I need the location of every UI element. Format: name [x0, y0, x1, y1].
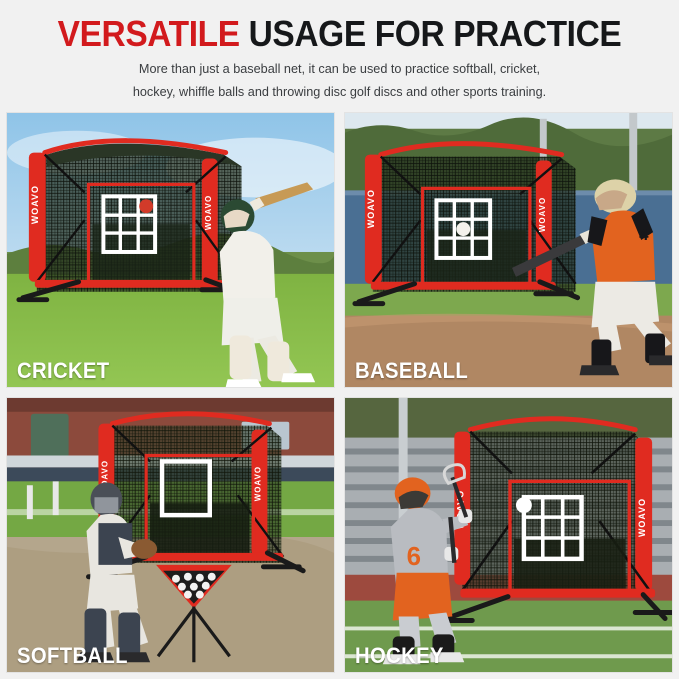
jersey-number: 4	[639, 225, 649, 244]
jersey-number: 6	[407, 543, 421, 571]
brand-text-left: WOAVO	[366, 189, 376, 228]
subtitle-line-2: hockey, whiffle balls and throwing disc …	[14, 78, 666, 101]
product-feature-image: VERSATILE USAGE FOR PRACTICE More than j…	[0, 0, 679, 679]
catchers-mitt	[131, 539, 157, 559]
net-base-bar	[460, 589, 655, 598]
brand-text-right: WOAVO	[538, 197, 547, 232]
baseball	[456, 222, 470, 236]
title-accent-word: VERSATILE	[58, 13, 240, 54]
brand-text-left: WOAVO	[30, 185, 40, 224]
softball-scene: WOAVO WOAVO	[7, 398, 334, 672]
panel-softball[interactable]: WOAVO WOAVO	[6, 397, 335, 673]
title-rest: USAGE FOR PRACTICE	[240, 13, 622, 54]
brand-text-right: WOAVO	[253, 466, 262, 501]
shin-guard-right	[118, 613, 140, 657]
panel-hockey[interactable]: WOAVO WOAVO 6	[344, 397, 673, 673]
uniform-pants	[87, 575, 139, 613]
brand-text-right: WOAVO	[204, 195, 213, 230]
leg-pad-front	[230, 335, 252, 379]
shin-guard-left	[85, 609, 107, 655]
header-banner: VERSATILE USAGE FOR PRACTICE More than j…	[0, 0, 679, 110]
cricket-ball	[139, 199, 153, 213]
panel-baseball[interactable]: WOAVO WOAVO 4	[344, 112, 673, 388]
brand-text-right: WOAVO	[637, 498, 647, 537]
sport-panel-grid: WOAVO WOAVO	[6, 112, 673, 673]
panel-cricket[interactable]: WOAVO WOAVO	[6, 112, 335, 388]
page-title: VERSATILE USAGE FOR PRACTICE	[24, 0, 655, 55]
face-mask	[94, 497, 118, 513]
baseball-scene: WOAVO WOAVO 4	[345, 113, 672, 387]
ball	[516, 497, 532, 513]
door	[31, 414, 69, 458]
cricket-scene: WOAVO WOAVO	[7, 113, 334, 387]
subtitle-line-1: More than just a baseball net, it can be…	[14, 55, 666, 78]
hockey-scene: WOAVO WOAVO 6	[345, 398, 672, 672]
